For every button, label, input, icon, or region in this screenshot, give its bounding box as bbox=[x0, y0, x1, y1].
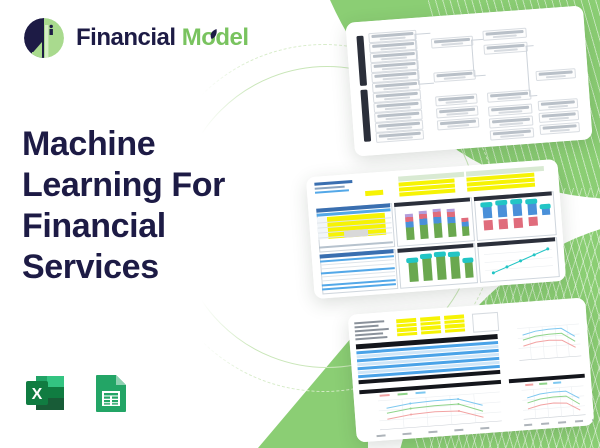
data-label bbox=[525, 199, 537, 205]
headline-line-4: Services bbox=[22, 247, 272, 288]
x-axis-tick bbox=[377, 434, 386, 437]
flow-node bbox=[489, 115, 534, 128]
x-axis-tick bbox=[592, 419, 594, 422]
x-axis-tick bbox=[402, 433, 411, 436]
circle-bars-logo-icon bbox=[22, 16, 66, 60]
report-content bbox=[348, 297, 595, 442]
bar-negative bbox=[513, 218, 523, 229]
brand-logo: Financial Model bbox=[22, 16, 249, 60]
bar bbox=[436, 255, 447, 280]
flow-diagram bbox=[345, 5, 592, 156]
x-axis-tick bbox=[524, 424, 532, 427]
flow-node bbox=[538, 98, 579, 111]
data-label bbox=[448, 251, 460, 257]
flow-node bbox=[433, 70, 476, 83]
x-axis-tick bbox=[541, 422, 549, 425]
flow-connector bbox=[418, 83, 434, 85]
x-axis-tick bbox=[480, 427, 489, 430]
headline-line-2: Learning For bbox=[22, 165, 272, 206]
app-icons-row: X bbox=[22, 370, 134, 416]
brand-wordmark: Financial Model bbox=[76, 26, 249, 50]
flow-connector bbox=[529, 95, 537, 96]
flow-connector bbox=[471, 39, 483, 40]
bar bbox=[408, 261, 418, 282]
slide-canvas: Financial Model Machine Learning For Fin… bbox=[0, 0, 600, 448]
bar-negative bbox=[498, 219, 508, 230]
flow-connector bbox=[474, 75, 486, 76]
data-label bbox=[434, 251, 446, 257]
bar-negative bbox=[528, 217, 538, 227]
data-label bbox=[462, 257, 473, 263]
bar-positive bbox=[512, 203, 522, 217]
flow-node bbox=[435, 93, 478, 106]
flow-node bbox=[483, 42, 528, 55]
input-cell bbox=[397, 331, 417, 336]
flow-connector bbox=[414, 33, 430, 35]
svg-text:X: X bbox=[32, 386, 43, 403]
flow-node bbox=[437, 117, 480, 130]
legend-swatch bbox=[539, 382, 547, 384]
brand-name-part2: Model bbox=[182, 24, 249, 51]
legend-swatch bbox=[415, 391, 425, 393]
flow-node bbox=[488, 103, 533, 116]
google-sheets-icon[interactable] bbox=[88, 370, 134, 416]
ebitda-chart-top bbox=[505, 320, 584, 369]
legend-swatch bbox=[553, 381, 561, 383]
x-axis-tick bbox=[454, 429, 463, 432]
flow-node bbox=[539, 122, 580, 135]
bar bbox=[422, 257, 433, 281]
legend-swatch bbox=[525, 383, 533, 385]
flow-node bbox=[482, 28, 527, 41]
flow-connector bbox=[526, 45, 534, 46]
dashboard-content bbox=[306, 159, 566, 299]
input-cell bbox=[421, 330, 441, 335]
flow-node bbox=[490, 127, 535, 140]
bar bbox=[450, 255, 461, 279]
data-label bbox=[495, 200, 507, 206]
data-label bbox=[480, 202, 492, 208]
bar-negative bbox=[484, 220, 494, 231]
stacked-bar bbox=[461, 218, 469, 236]
financial-dashboard-card[interactable] bbox=[306, 159, 566, 299]
section-tab-income-statement bbox=[356, 36, 367, 86]
flow-node bbox=[431, 36, 474, 49]
bar bbox=[464, 261, 473, 278]
flow-node bbox=[436, 105, 479, 118]
data-label bbox=[420, 253, 432, 259]
left-content-column: Financial Model Machine Learning For Fin… bbox=[0, 0, 300, 448]
data-label bbox=[539, 204, 550, 210]
x-axis-tick bbox=[428, 431, 437, 434]
flow-node bbox=[487, 89, 532, 102]
flow-node bbox=[535, 68, 576, 81]
legend-swatch bbox=[380, 394, 390, 396]
excel-icon[interactable]: X bbox=[22, 370, 68, 416]
bar-positive bbox=[497, 204, 507, 218]
x-axis-tick bbox=[575, 420, 583, 423]
legend-swatch bbox=[398, 393, 408, 395]
bar-positive bbox=[482, 206, 492, 219]
flow-node bbox=[539, 110, 580, 123]
dupont-flow-diagram-card[interactable] bbox=[345, 5, 592, 156]
data-label bbox=[510, 199, 522, 205]
data-label bbox=[406, 257, 418, 263]
flow-node bbox=[376, 129, 425, 142]
brand-name-part1: Financial bbox=[76, 24, 176, 51]
input-cell bbox=[445, 328, 465, 333]
bar-positive bbox=[527, 203, 537, 216]
page-title: Machine Learning For Financial Services bbox=[22, 124, 272, 288]
headline-line-3: Financial bbox=[22, 206, 272, 247]
flow-connector bbox=[526, 46, 530, 96]
line-chart-report-card[interactable] bbox=[348, 297, 595, 442]
headline-line-1: Machine bbox=[22, 124, 272, 165]
x-axis-tick bbox=[558, 421, 566, 424]
input-cell bbox=[365, 190, 383, 196]
section-tab-balance-sheet bbox=[360, 89, 371, 141]
